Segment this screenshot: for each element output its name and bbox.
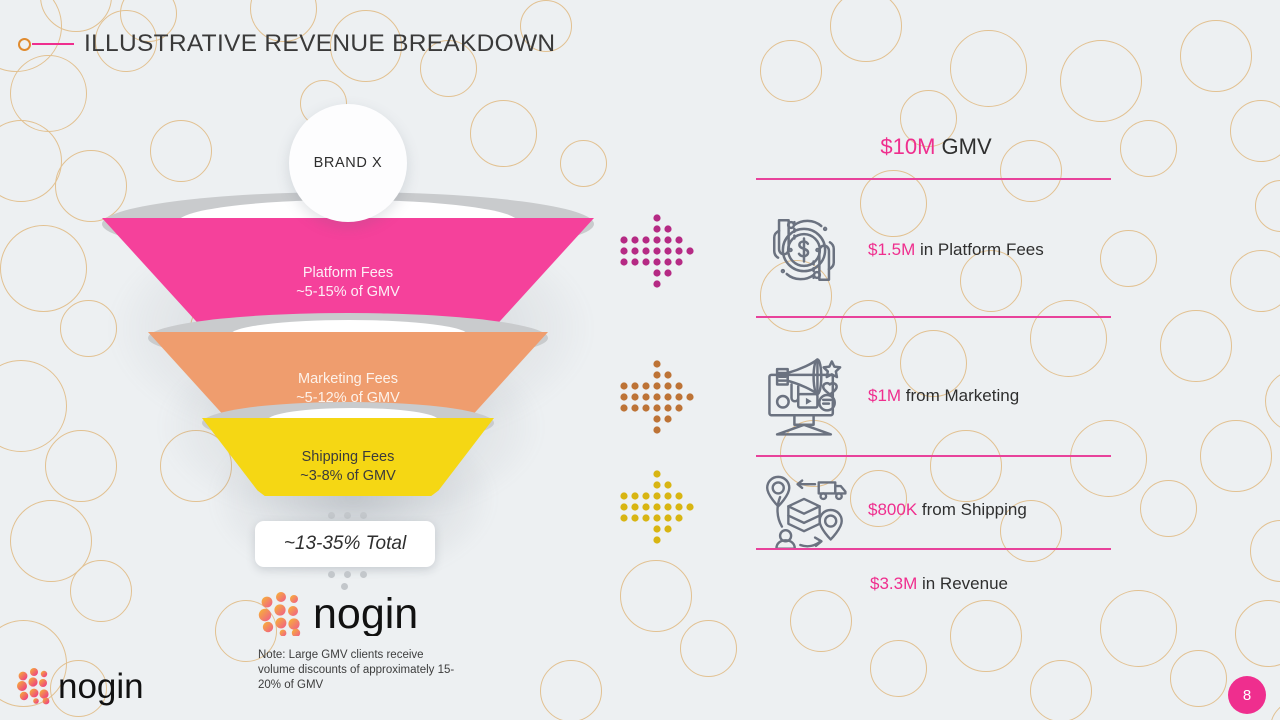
dot <box>328 571 335 578</box>
total-revenue-text: $3.3M in Revenue <box>870 574 1008 594</box>
dot <box>328 512 335 519</box>
breakdown-row-marketing-text: $1M from Marketing <box>868 386 1019 406</box>
gmv-label: GMV <box>935 134 991 159</box>
page-title-row: ILLUSTRATIVE REVENUE BREAKDOWN <box>18 30 555 58</box>
marketing-amount: $1M <box>868 386 901 405</box>
gmv-header: $10M GMV <box>756 134 1116 160</box>
shipping-label: from Shipping <box>917 500 1027 519</box>
page-number-badge: 8 <box>1228 676 1266 714</box>
funnel-tier-1-name: Platform Fees <box>100 264 596 283</box>
funnel-tier-1-rate: ~5-15% of GMV <box>100 283 596 302</box>
brand-x-circle: BRAND X <box>289 104 407 222</box>
svg-text:nogin: nogin <box>313 590 418 636</box>
shipping-arrow-icon <box>618 468 696 551</box>
dot <box>360 512 367 519</box>
breakdown-row-shipping: $800K from Shipping <box>756 462 1027 558</box>
nogin-logo-center: nogin <box>255 588 445 636</box>
breakdown-row-marketing: $1M from Marketing <box>756 348 1019 444</box>
revenue-label: in Revenue <box>917 574 1008 593</box>
page-number: 8 <box>1243 687 1251 704</box>
title-accent-line <box>32 43 74 46</box>
breakdown-row-platform-text: $1.5M in Platform Fees <box>868 240 1044 260</box>
total-rate-label: ~13-35% Total <box>284 533 406 555</box>
breakdown-row-shipping-text: $800K from Shipping <box>868 500 1027 520</box>
funnel-tier-3-label: Shipping Fees ~3-8% of GMV <box>100 448 596 486</box>
platform-amount: $1.5M <box>868 240 915 259</box>
nogin-logo-footer: nogin <box>14 664 149 706</box>
page-title: ILLUSTRATIVE REVENUE BREAKDOWN <box>84 30 555 58</box>
svg-text:nogin: nogin <box>58 667 144 706</box>
title-ring-icon <box>18 38 31 51</box>
money-in-hands-icon <box>756 202 852 298</box>
breakdown-row-platform: $1.5M in Platform Fees <box>756 202 1044 298</box>
shipping-logistics-icon <box>756 462 852 558</box>
dot <box>344 512 351 519</box>
divider-1 <box>756 178 1111 180</box>
funnel-tier-3-name: Shipping Fees <box>100 448 596 467</box>
badge-dots-bottom <box>328 571 367 578</box>
funnel-tier-1-label: Platform Fees ~5-15% of GMV <box>100 264 596 302</box>
funnel-tier-2-name: Marketing Fees <box>100 370 596 389</box>
shipping-amount: $800K <box>868 500 917 519</box>
marketing-label: from Marketing <box>901 386 1019 405</box>
divider-4 <box>756 548 1111 550</box>
platform-arrow-icon <box>618 212 696 295</box>
revenue-funnel: BRAND X Platform Fees ~5-15% of GMV Mark… <box>100 100 600 520</box>
marketing-megaphone-icon <box>756 348 852 444</box>
badge-dots-top <box>328 512 367 519</box>
slide-canvas: ILLUSTRATIVE REVENUE BREAKDOWN BRAND X P… <box>0 0 1280 720</box>
divider-3 <box>756 455 1111 457</box>
divider-2 <box>756 316 1111 318</box>
total-rate-badge: ~13-35% Total <box>255 521 435 567</box>
brand-x-label: BRAND X <box>314 155 383 171</box>
funnel-tier-3-rate: ~3-8% of GMV <box>100 467 596 486</box>
marketing-arrow-icon <box>618 358 696 441</box>
gmv-amount: $10M <box>880 134 935 159</box>
revenue-amount: $3.3M <box>870 574 917 593</box>
dot <box>344 571 351 578</box>
funnel-note: Note: Large GMV clients receive volume d… <box>258 648 458 693</box>
dot <box>360 571 367 578</box>
platform-label: in Platform Fees <box>915 240 1044 259</box>
